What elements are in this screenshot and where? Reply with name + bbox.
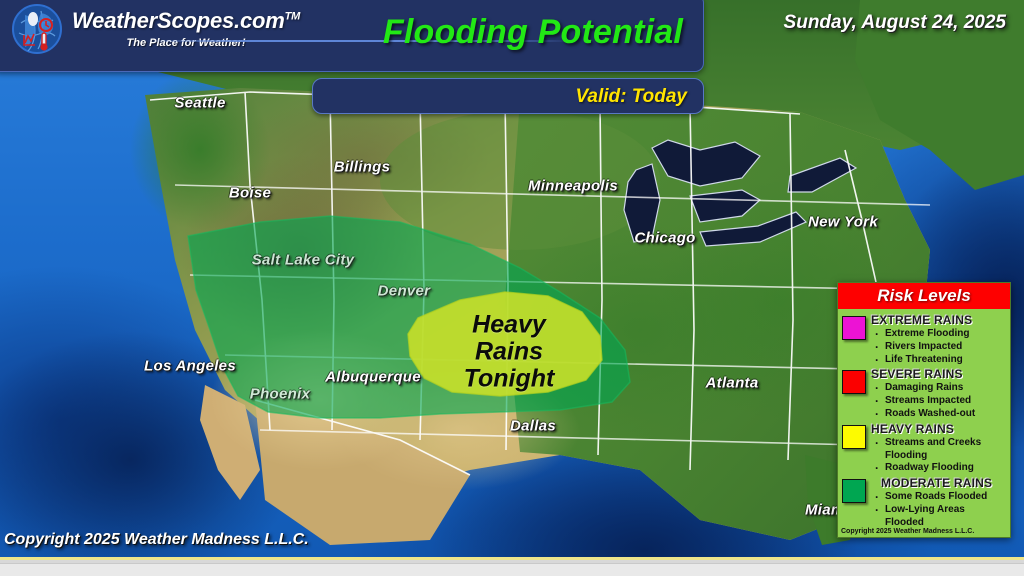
city-label: Denver [378,283,431,300]
legend-bullet: Streams Impacted [871,395,1006,408]
legend-item-texts: EXTREME RAINSExtreme FloodingRivers Impa… [871,313,1006,366]
legend-bullet: Low-Lying Areas Flooded [871,504,1006,530]
legend-copyright: Copyright 2025 Weather Madness L.L.C. [841,528,974,535]
legend-color-swatch [842,479,866,503]
page-title: Flooding Potential [383,13,683,52]
legend-color-swatch [842,370,866,394]
legend-title: Risk Levels [877,286,971,306]
legend-header: Risk Levels [838,283,1010,309]
city-label: Minneapolis [528,178,618,195]
risk-annotation-label: Heavy Rains Tonight [464,312,555,393]
legend-bullet: Rivers Impacted [871,341,1006,354]
brand-logo[interactable]: WeatherScopes.comTM The Place for Weathe… [11,3,300,55]
city-label: Phoenix [250,386,310,403]
weather-map-page: SeattleBoiseBillingsMinneapolisChicagoNe… [0,0,1024,576]
valid-period-label: Valid: Today [575,86,687,108]
legend-bullet: Streams and Creeks Flooding [871,437,1006,463]
legend-item-texts: SEVERE RAINSDamaging RainsStreams Impact… [871,367,1006,420]
legend-body: EXTREME RAINSExtreme FloodingRivers Impa… [838,309,1010,530]
globe-weather-icon [11,3,63,55]
risk-levels-legend[interactable]: Risk Levels EXTREME RAINSExtreme Floodin… [837,282,1011,538]
city-label: Albuquerque [325,369,421,386]
legend-bullet: Roadway Flooding [871,462,1006,475]
legend-item[interactable]: HEAVY RAINSStreams and Creeks FloodingRo… [842,422,1006,475]
legend-bullet-list: Damaging RainsStreams ImpactedRoads Wash… [871,382,1006,420]
city-label: Salt Lake City [252,252,355,269]
legend-bullet-list: Some Roads FloodedLow-Lying Areas Floode… [871,491,1006,529]
brand-trademark: TM [285,10,300,22]
legend-bullet: Damaging Rains [871,382,1006,395]
city-label: New York [808,214,878,231]
brand-name-text: WeatherScopes.com [72,8,285,33]
bottom-chrome-strip [0,563,1024,576]
legend-bullet: Some Roads Flooded [871,491,1006,504]
city-label: Boise [229,185,271,202]
forecast-date: Sunday, August 24, 2025 [784,12,1006,34]
city-label: Dallas [510,418,556,435]
map-copyright: Copyright 2025 Weather Madness L.L.C. [4,531,309,549]
city-label: Los Angeles [144,358,236,375]
map-canvas[interactable]: SeattleBoiseBillingsMinneapolisChicagoNe… [0,0,1024,560]
legend-item[interactable]: EXTREME RAINSExtreme FloodingRivers Impa… [842,313,1006,366]
city-label: Chicago [634,230,695,247]
legend-bullet: Extreme Flooding [871,328,1006,341]
legend-item[interactable]: SEVERE RAINSDamaging RainsStreams Impact… [842,367,1006,420]
legend-category-label: MODERATE RAINS [871,476,1006,491]
legend-item-texts: MODERATE RAINSSome Roads FloodedLow-Lyin… [871,476,1006,529]
legend-color-swatch [842,316,866,340]
legend-bullet-list: Extreme FloodingRivers ImpactedLife Thre… [871,328,1006,366]
header-banner: WeatherScopes.comTM The Place for Weathe… [0,0,704,72]
legend-bullet: Life Threatening [871,354,1006,367]
brand-name: WeatherScopes.comTM [72,10,300,32]
city-label: Seattle [174,95,225,112]
city-label: Atlanta [706,375,759,392]
legend-item-texts: HEAVY RAINSStreams and Creeks FloodingRo… [871,422,1006,475]
legend-bullet-list: Streams and Creeks FloodingRoadway Flood… [871,437,1006,475]
legend-bullet: Roads Washed-out [871,408,1006,421]
valid-period-box: Valid: Today [312,78,704,114]
legend-color-swatch [842,425,866,449]
legend-item[interactable]: MODERATE RAINSSome Roads FloodedLow-Lyin… [842,476,1006,529]
legend-category-label: HEAVY RAINS [871,422,1006,437]
city-label: Billings [334,159,391,176]
legend-category-label: SEVERE RAINS [871,367,1006,382]
legend-category-label: EXTREME RAINS [871,313,1006,328]
